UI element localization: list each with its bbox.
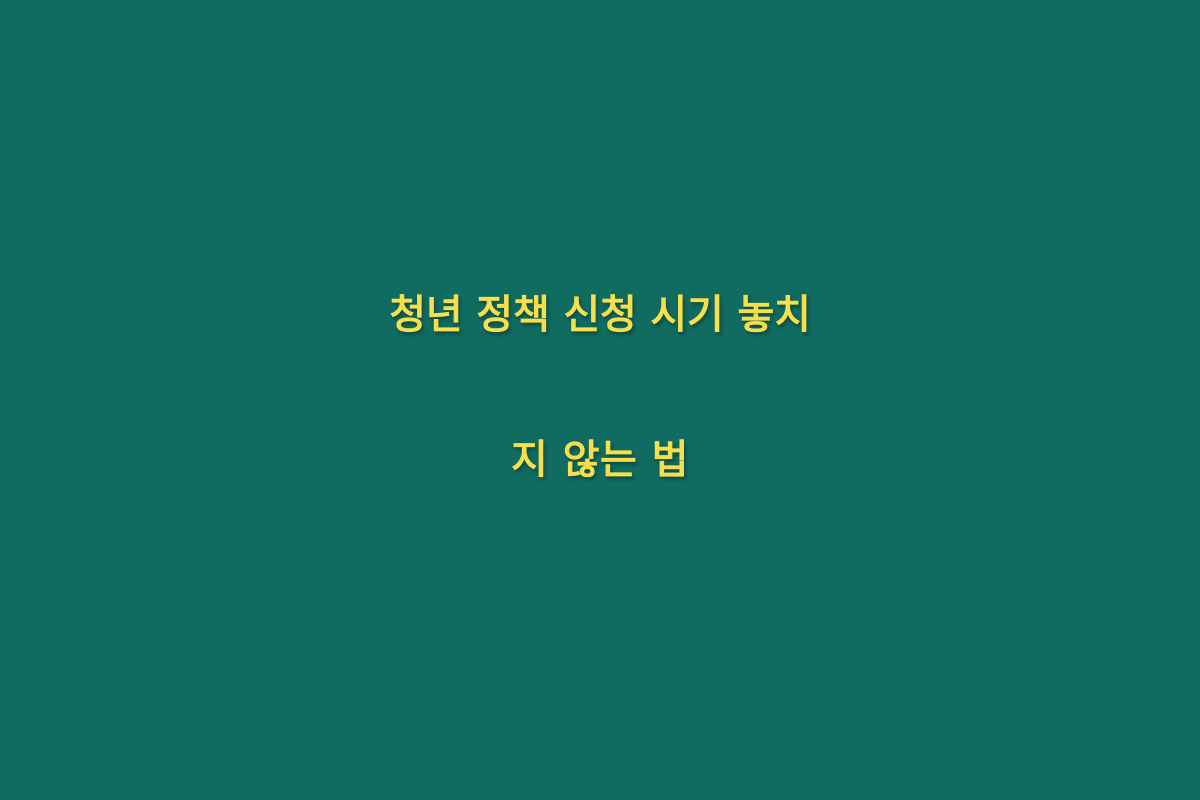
headline-line-1: 청년 정책 신청 시기 놓치 [6,243,1194,388]
headline-block: 청년 정책 신청 시기 놓치 지 않는 법 [0,243,1200,533]
headline-line-2: 지 않는 법 [6,388,1194,533]
title-card: 청년 정책 신청 시기 놓치 지 않는 법 [0,0,1200,800]
